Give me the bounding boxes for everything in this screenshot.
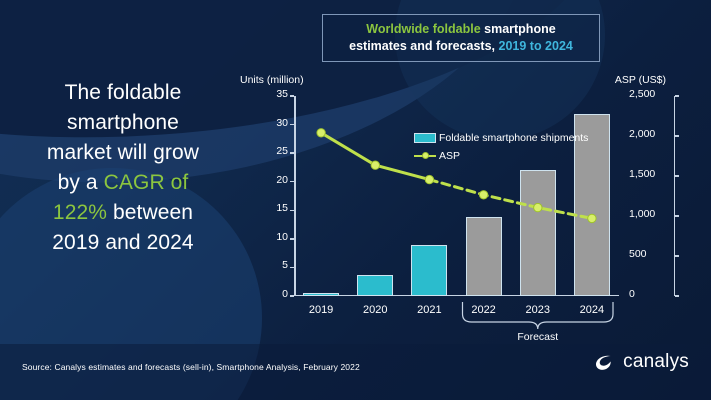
y-axis-left-label: 30 <box>254 117 288 129</box>
y-axis-right-tick <box>675 95 679 97</box>
title-segment-blue: 2019 to 2024 <box>499 39 573 53</box>
y-axis-left-label: 15 <box>254 202 288 214</box>
y-axis-right-line <box>674 96 676 296</box>
plot-area: 05101520253035 05001,0001,5002,0002,500 … <box>294 96 619 296</box>
headline-line-5-plain: between <box>107 201 193 224</box>
page-title: Worldwide foldable smartphone estimates … <box>341 21 581 55</box>
y-axis-left-label: 0 <box>254 288 288 300</box>
canalys-mark-icon <box>592 350 616 374</box>
forecast-bracket-icon <box>294 96 619 356</box>
headline-line-4-accent: CAGR of <box>104 171 189 194</box>
y-axis-left-label: 20 <box>254 174 288 186</box>
y-axis-right-label: 0 <box>629 288 669 300</box>
canalys-wordmark: canalys <box>623 351 689 373</box>
y-axis-right-tick <box>675 215 679 217</box>
y-axis-right-tick <box>675 255 679 257</box>
title-segment-green: Worldwide foldable <box>366 22 480 36</box>
y-axis-right-tick <box>675 135 679 137</box>
y-axis-right-label: 2,500 <box>629 88 669 100</box>
source-note: Source: Canalys estimates and forecasts … <box>22 362 360 372</box>
headline-line-2: smartphone <box>67 111 179 134</box>
y-axis-right-label: 2,000 <box>629 128 669 140</box>
y-axis-right-label: 500 <box>629 248 669 260</box>
y-axis-left-label: 25 <box>254 145 288 157</box>
y-axis-left-label: 10 <box>254 231 288 243</box>
headline-text: The foldable smartphone market will grow… <box>14 78 232 258</box>
title-segment-white-1: smartphone <box>481 22 556 36</box>
chart-area: Units (million) ASP (US$) 05101520253035… <box>236 74 666 324</box>
y-axis-right-tick <box>675 295 679 297</box>
headline-line-1: The foldable <box>65 81 182 104</box>
slide-canvas: The foldable smartphone market will grow… <box>0 0 711 400</box>
chart-title-box: Worldwide foldable smartphone estimates … <box>322 14 600 62</box>
headline-line-3: market will grow <box>47 141 199 164</box>
y-axis-right-label: 1,500 <box>629 168 669 180</box>
forecast-label: Forecast <box>498 331 578 343</box>
y-axis-right-label: 1,000 <box>629 208 669 220</box>
forecast-bracket-path <box>463 302 614 329</box>
headline-line-6: 2019 and 2024 <box>52 231 193 254</box>
y-axis-right-tick <box>675 175 679 177</box>
canalys-logo: canalys <box>592 350 689 374</box>
headline-line-4-plain: by a <box>58 171 104 194</box>
y-axis-right-title: ASP (US$) <box>615 74 666 86</box>
title-segment-white-2: estimates and forecasts, <box>349 39 498 53</box>
y-axis-left-label: 5 <box>254 259 288 271</box>
y-axis-left-label: 35 <box>254 88 288 100</box>
y-axis-left-title: Units (million) <box>240 74 304 86</box>
headline-line-5-accent: 122% <box>53 201 107 224</box>
